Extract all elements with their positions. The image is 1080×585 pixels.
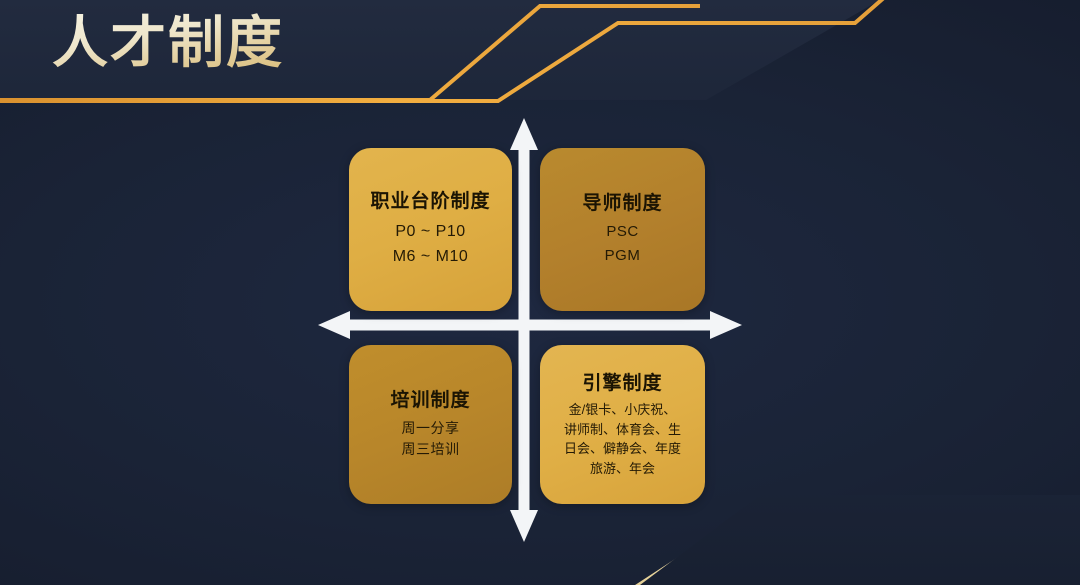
card-title-mentor: 导师制度 [582,191,662,217]
card-line: 日会、僻静会、年度 [564,439,681,459]
card-line: PSC [605,220,641,244]
horizontal-axis-arrow [318,311,742,339]
card-body-career: P0 ~ P10 M6 ~ M10 [393,219,469,270]
quadrant-card-training[interactable]: 培训制度 周一分享 周三培训 [349,345,512,504]
card-title-engine: 引擎制度 [582,371,662,397]
card-line: 金/银卡、小庆祝、 [564,400,681,420]
slide-canvas: 人才制度 职业台阶制度 P0 ~ P10 M6 ~ M10 导师制度 PSC P… [0,0,1080,585]
quadrant-card-mentor[interactable]: 导师制度 PSC PGM [540,148,705,311]
quadrant-matrix: 职业台阶制度 P0 ~ P10 M6 ~ M10 导师制度 PSC PGM 培训… [0,0,1080,585]
card-body-engine: 金/银卡、小庆祝、 讲师制、体育会、生 日会、僻静会、年度 旅游、年会 [564,400,681,478]
card-body-mentor: PSC PGM [605,220,641,268]
card-line: 旅游、年会 [564,459,681,479]
card-line: 周一分享 [402,418,460,440]
quadrant-card-career[interactable]: 职业台阶制度 P0 ~ P10 M6 ~ M10 [349,148,512,311]
card-line: PGM [605,244,641,268]
card-line: 周三培训 [402,439,460,461]
card-line: 讲师制、体育会、生 [564,420,681,440]
card-line: M6 ~ M10 [393,244,469,270]
card-body-training: 周一分享 周三培训 [402,418,460,461]
vertical-axis-arrow [510,118,538,542]
card-title-career: 职业台阶制度 [370,189,490,215]
quadrant-card-engine[interactable]: 引擎制度 金/银卡、小庆祝、 讲师制、体育会、生 日会、僻静会、年度 旅游、年会 [540,345,705,504]
card-title-training: 培训制度 [390,388,470,414]
card-line: P0 ~ P10 [393,219,469,245]
